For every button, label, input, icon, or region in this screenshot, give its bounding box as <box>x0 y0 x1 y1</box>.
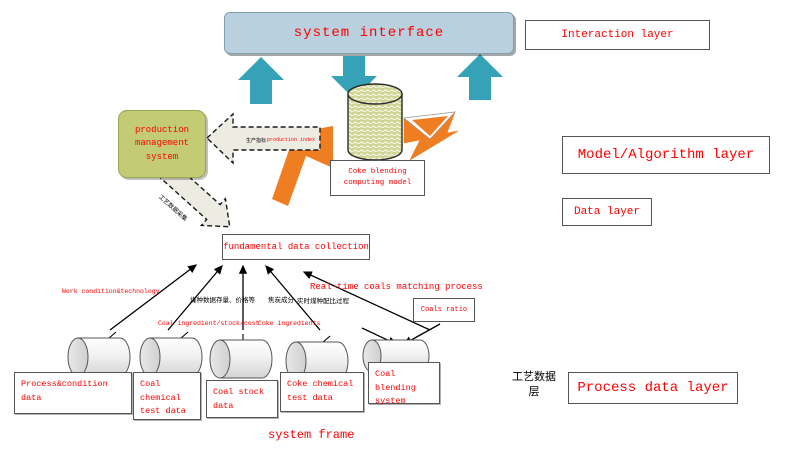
coals-ratio-label: Coals ratio <box>421 306 467 314</box>
model-algorithm-layer-box: Model/Algorithm layer <box>562 136 770 174</box>
data-box-line: Coal blending <box>375 368 433 395</box>
process-data-layer-box: Process data layer <box>568 372 738 404</box>
annotation-realtime-cn: 实时煤种配比过程 <box>297 295 349 305</box>
teal-arrow-up-left <box>238 57 284 104</box>
coke-model-line-2: computing model <box>344 178 412 189</box>
model-algorithm-layer-label: Model/Algorithm layer <box>578 147 754 163</box>
data-box-line: Coke chemical <box>287 378 357 392</box>
fundamental-data-collection-label: fundamental data collection <box>223 242 369 252</box>
pms-line-1: production <box>135 124 189 138</box>
process-data-layer-label: Process data layer <box>577 380 728 396</box>
annotation-coal-data-cn: 煤种数据存量、价格等 <box>190 294 255 304</box>
teal-arrow-up-right <box>457 54 503 100</box>
system-interface-box[interactable]: system interface <box>224 12 514 54</box>
cylinder-2 <box>140 338 202 376</box>
data-box-coal-stock: Coal stock data <box>206 380 278 418</box>
system-interface-label: system interface <box>294 25 444 41</box>
data-box-line: Coal stock <box>213 386 271 400</box>
data-box-line: data <box>21 392 125 406</box>
diagram-caption: system frame <box>268 428 354 442</box>
dashed-arrow-label-en: production index <box>267 137 315 143</box>
annotation-coke-ingredients: Coke ingredients <box>258 320 320 327</box>
data-box-line: test data <box>140 405 194 419</box>
data-box-coke-chemical: Coke chemical test data <box>280 372 364 412</box>
interaction-layer-label: Interaction layer <box>561 29 673 41</box>
annotation-realtime-en: Real-time coals matching process <box>310 282 483 292</box>
dashed-arrow-label: 生产指标 production index <box>246 134 320 146</box>
cylinder-1 <box>68 338 130 376</box>
coke-model-line-1: Coke blending <box>348 167 407 178</box>
fundamental-data-collection-box: fundamental data collection <box>222 234 370 260</box>
annotation-work-condition: Work condition&technology <box>62 288 160 295</box>
data-layer-label: Data layer <box>574 206 640 218</box>
annotation-coal-ingredient: Coal ingredient/stock/cost <box>158 320 259 327</box>
production-management-system-box[interactable]: production management system <box>118 110 206 178</box>
diagram-canvas: system interface Interaction layer Model… <box>0 0 800 450</box>
annotation-coke-ingredient-cn: 焦炭成分 <box>268 294 294 304</box>
data-box-line: Process&condition <box>21 378 125 392</box>
pms-line-2: management <box>135 137 189 151</box>
data-box-line: Coal <box>140 378 194 392</box>
data-box-coal-blending: Coal blending system <box>368 362 440 404</box>
data-box-coal-chemical: Coal chemical test data <box>133 372 201 420</box>
coke-blending-model-box: Coke blending computing model <box>330 160 425 196</box>
process-data-layer-label-cn: 工艺数据层 <box>508 370 560 406</box>
data-layer-box: Data layer <box>562 198 652 226</box>
interaction-layer-box: Interaction layer <box>525 20 710 50</box>
data-box-process-condition: Process&condition data <box>14 372 132 414</box>
orange-lightning-icon <box>404 112 458 160</box>
coals-ratio-box: Coals ratio <box>413 298 475 322</box>
data-box-line: test data <box>287 392 357 406</box>
data-box-line: chemical <box>140 392 194 406</box>
database-cylinder-icon <box>348 84 402 160</box>
data-box-line: system <box>375 395 433 409</box>
pms-line-3: system <box>146 151 178 165</box>
data-box-line: data <box>213 400 271 414</box>
dashed-arrow-label-cn: 生产指标 <box>246 137 266 144</box>
cylinder-3 <box>210 340 272 378</box>
